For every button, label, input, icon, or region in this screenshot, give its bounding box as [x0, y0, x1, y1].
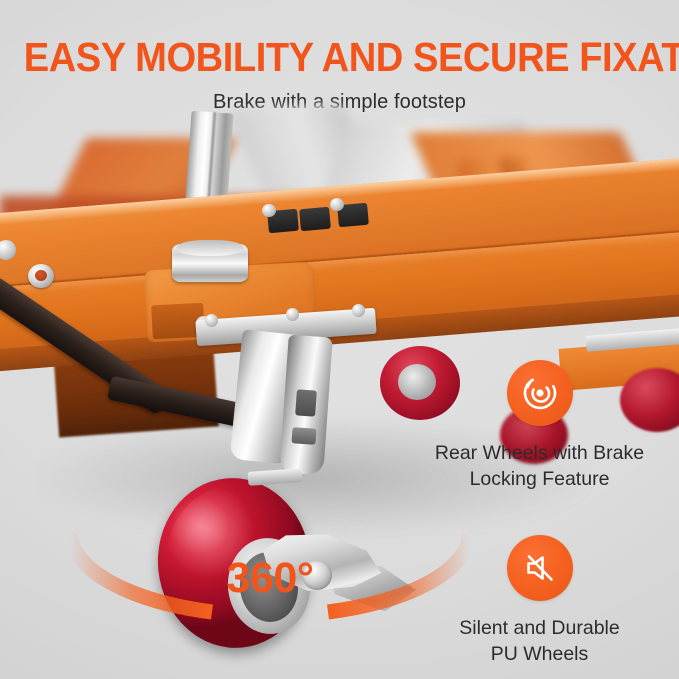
caster-fork-slot [295, 389, 317, 416]
mute-speaker-icon [507, 535, 573, 601]
brake-disc-glyph [520, 373, 560, 413]
rail-bolt [330, 198, 344, 211]
feature-caption-line: PU Wheels [400, 641, 679, 667]
product-feature-graphic: EASY MOBILITY AND SECURE FIXATION Brake … [0, 0, 679, 679]
brake-disc-icon [507, 360, 573, 426]
rail-clip [299, 207, 331, 232]
caster-plate-bolt [352, 304, 365, 317]
feature-caption-brake-lock: Rear Wheels with Brake Locking Feature [400, 440, 679, 493]
feature-caption-line: Locking Feature [400, 466, 679, 492]
feature-caption-line: Rear Wheels with Brake [400, 440, 679, 466]
feature-caption-line: Silent and Durable [400, 615, 679, 641]
rail-bolt [262, 204, 276, 217]
feature-item-silent-pu: Silent and Durable PU Wheels [400, 535, 679, 668]
feature-caption-silent-pu: Silent and Durable PU Wheels [400, 615, 679, 668]
feature-list: Rear Wheels with Brake Locking Feature S… [400, 360, 679, 679]
caster-plate-bolt [286, 308, 299, 321]
mute-speaker-glyph [520, 548, 560, 588]
caster-plate-bolt [205, 314, 218, 327]
feature-item-brake-lock: Rear Wheels with Brake Locking Feature [400, 360, 679, 493]
hydraulic-ram-collar-top [176, 240, 244, 256]
foot-pedal-pivot-bolt [28, 264, 54, 288]
page-title: EASY MOBILITY AND SECURE FIXATION [24, 36, 655, 79]
caster-fork-slot-lower [291, 427, 316, 445]
